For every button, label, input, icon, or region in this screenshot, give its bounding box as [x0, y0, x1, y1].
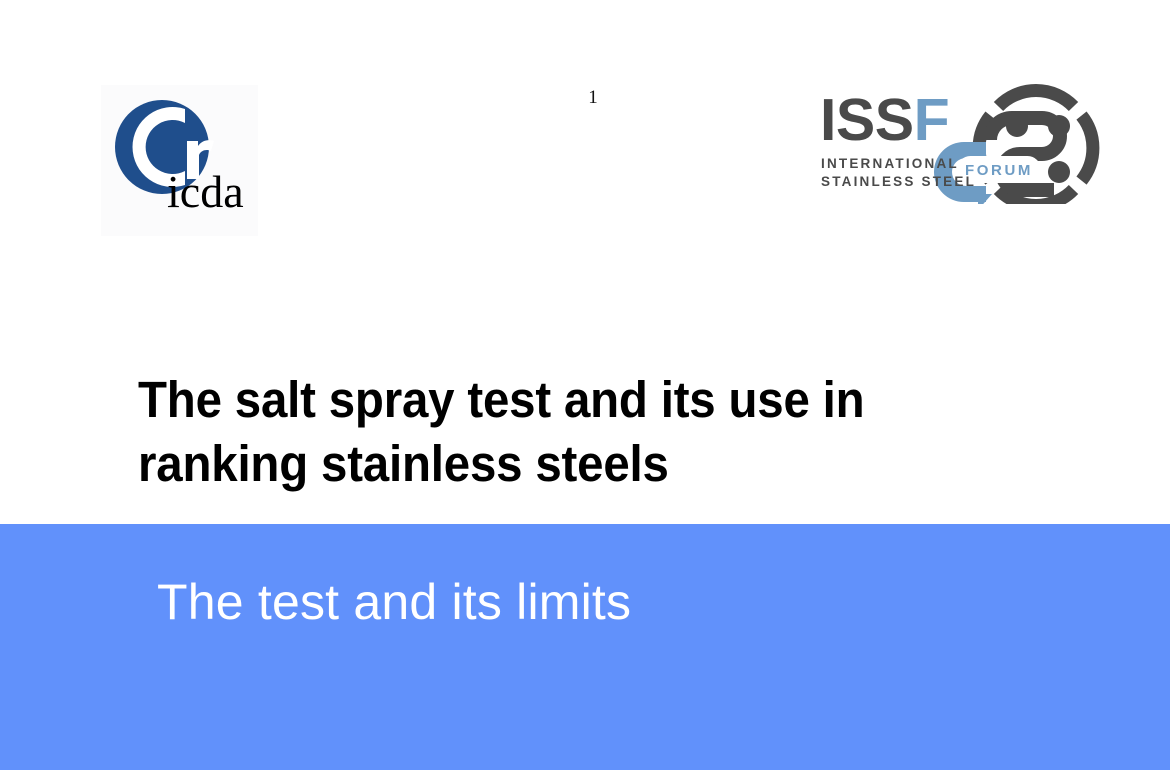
slide-title: The salt spray test and its use in ranki… — [138, 368, 975, 496]
issf-acronym-dark: ISS — [820, 87, 914, 153]
band-subtitle: The test and its limits — [157, 571, 631, 633]
issf-ring-icon — [979, 91, 1093, 204]
blue-band — [0, 524, 1170, 770]
page-number: 1 — [580, 86, 606, 110]
icda-logo: icda — [101, 85, 258, 236]
icda-wordmark-text: icda — [167, 166, 244, 217]
issf-ring-dot — [1048, 161, 1070, 183]
slide-canvas: icda 1 — [0, 0, 1170, 770]
issf-tagline-line1: INTERNATIONAL — [821, 156, 959, 171]
issf-acronym-accent: F — [914, 87, 950, 153]
issf-tagline-line2: STAINLESS STEEL — [821, 174, 976, 189]
issf-logo: FORUM ISSF INTERNATIONAL STAINLESS STEEL — [818, 82, 1108, 204]
icda-logo-graphic: icda — [101, 85, 258, 236]
issf-logo-graphic: FORUM ISSF INTERNATIONAL STAINLESS STEEL — [818, 82, 1108, 204]
issf-acronym-text: ISSF — [820, 87, 949, 153]
